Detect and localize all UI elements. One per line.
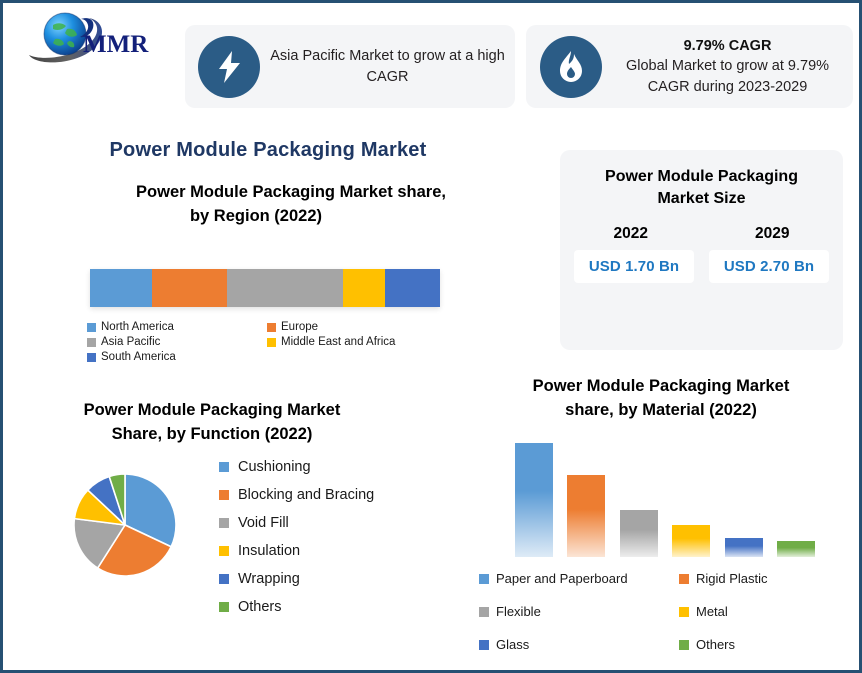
lightning-bolt-glyph: [214, 50, 244, 84]
material-bars: [515, 437, 815, 557]
material-legend-item: Rigid Plastic: [679, 571, 859, 586]
function-legend-item: Void Fill: [219, 515, 374, 531]
flame-glyph: [558, 50, 584, 84]
region-bar-segment: [152, 269, 227, 307]
legend-label: Paper and Paperboard: [496, 571, 628, 586]
legend-swatch-icon: [87, 323, 96, 332]
lightning-bolt-icon: [198, 36, 260, 98]
svg-text:MMR: MMR: [83, 31, 149, 58]
legend-swatch-icon: [87, 353, 96, 362]
legend-swatch-icon: [479, 640, 489, 650]
legend-swatch-icon: [267, 338, 276, 347]
material-chart-legend: Paper and PaperboardRigid PlasticFlexibl…: [479, 571, 859, 652]
legend-label: Cushioning: [238, 459, 311, 475]
region-bar-segment: [385, 269, 440, 307]
region-legend-item: South America: [87, 351, 267, 363]
legend-label: Others: [238, 599, 282, 615]
material-chart-title: Power Module Packaging Market share, by …: [465, 375, 857, 423]
legend-label: Europe: [281, 321, 318, 333]
region-legend-item: Asia Pacific: [87, 336, 267, 348]
function-pie-graphic: [73, 473, 177, 577]
region-bar-segment: [227, 269, 343, 307]
market-size-panel: Power Module Packaging Market Size 2022 …: [560, 150, 843, 350]
infographic-canvas: MMR Asia Pacific Market to grow at a hig…: [0, 0, 862, 673]
material-bar: [672, 525, 710, 557]
cagr-highlight: 9.79% CAGR: [608, 36, 847, 57]
legend-label: Flexible: [496, 604, 541, 619]
region-chart-legend: North AmericaEuropeAsia PacificMiddle Ea…: [87, 321, 447, 363]
function-legend-item: Blocking and Bracing: [219, 487, 374, 503]
market-size-title-line2: Market Size: [657, 190, 745, 207]
legend-label: Rigid Plastic: [696, 571, 768, 586]
material-bar: [515, 443, 553, 557]
material-legend-item: Paper and Paperboard: [479, 571, 679, 586]
material-chart-title-line1: Power Module Packaging Market: [533, 377, 790, 395]
market-size-years: 2022 2029: [560, 225, 843, 243]
legend-label: Others: [696, 637, 735, 652]
region-chart: Power Module Packaging Market share, by …: [61, 181, 451, 373]
material-chart-title-line2: share, by Material (2022): [565, 401, 757, 419]
region-chart-title-line2: by Region (2022): [61, 205, 451, 229]
function-legend-item: Wrapping: [219, 571, 374, 587]
legend-label: Asia Pacific: [101, 336, 160, 348]
material-bar: [725, 538, 763, 557]
material-bar-chart: Power Module Packaging Market share, by …: [465, 375, 862, 673]
market-size-year-2029: 2029: [712, 225, 832, 243]
function-chart-title-line2: Share, by Function (2022): [112, 425, 313, 443]
legend-swatch-icon: [219, 574, 229, 584]
function-chart-legend: CushioningBlocking and BracingVoid FillI…: [219, 459, 374, 615]
header-card-cagr: 9.79% CAGR Global Market to grow at 9.79…: [526, 25, 853, 108]
flame-icon: [540, 36, 602, 98]
legend-label: Metal: [696, 604, 728, 619]
material-legend-item: Flexible: [479, 604, 679, 619]
market-size-year-2022: 2022: [571, 225, 691, 243]
region-stacked-bar: [90, 269, 440, 307]
market-size-values: USD 1.70 Bn USD 2.70 Bn: [574, 250, 829, 283]
legend-label: Insulation: [238, 543, 300, 559]
region-legend-item: North America: [87, 321, 267, 333]
legend-swatch-icon: [219, 546, 229, 556]
region-bar-segment: [343, 269, 385, 307]
material-legend-item: Glass: [479, 637, 679, 652]
legend-swatch-icon: [479, 574, 489, 584]
market-size-title: Power Module Packaging Market Size: [560, 166, 843, 211]
region-legend-item: Europe: [267, 321, 447, 333]
material-bar: [620, 510, 658, 557]
legend-swatch-icon: [219, 462, 229, 472]
region-bar-segment: [90, 269, 152, 307]
legend-swatch-icon: [479, 607, 489, 617]
region-chart-title-line1: Power Module Packaging Market share,: [136, 183, 446, 201]
function-legend-item: Insulation: [219, 543, 374, 559]
legend-label: South America: [101, 351, 176, 363]
legend-swatch-icon: [219, 490, 229, 500]
market-size-value-2022: USD 1.70 Bn: [574, 250, 694, 283]
legend-label: Middle East and Africa: [281, 336, 395, 348]
legend-swatch-icon: [679, 607, 689, 617]
legend-swatch-icon: [219, 518, 229, 528]
market-size-value-2029: USD 2.70 Bn: [709, 250, 829, 283]
function-chart-title: Power Module Packaging Market Share, by …: [27, 399, 397, 447]
cagr-description: Global Market to grow at 9.79% CAGR duri…: [626, 58, 829, 95]
legend-swatch-icon: [679, 574, 689, 584]
legend-label: Wrapping: [238, 571, 300, 587]
legend-swatch-icon: [267, 323, 276, 332]
mmr-logo: MMR: [23, 9, 155, 67]
legend-swatch-icon: [679, 640, 689, 650]
function-legend-item: Cushioning: [219, 459, 374, 475]
material-legend-item: Metal: [679, 604, 859, 619]
function-legend-item: Others: [219, 599, 374, 615]
legend-swatch-icon: [87, 338, 96, 347]
legend-swatch-icon: [219, 602, 229, 612]
region-legend-item: Middle East and Africa: [267, 336, 447, 348]
mmr-logo-icon: MMR: [23, 9, 155, 67]
material-bar: [567, 475, 605, 557]
legend-label: North America: [101, 321, 174, 333]
header-card-cagr-text: 9.79% CAGR Global Market to grow at 9.79…: [602, 36, 853, 98]
header-card-asia-pacific: Asia Pacific Market to grow at a high CA…: [185, 25, 515, 108]
header-card-asia-pacific-text: Asia Pacific Market to grow at a high CA…: [260, 46, 515, 87]
legend-label: Glass: [496, 637, 529, 652]
market-size-title-line1: Power Module Packaging: [605, 168, 798, 185]
material-bar: [777, 541, 815, 557]
page-title: Power Module Packaging Market: [3, 139, 533, 162]
region-chart-title: Power Module Packaging Market share, by …: [61, 181, 451, 229]
legend-label: Blocking and Bracing: [238, 487, 374, 503]
material-legend-item: Others: [679, 637, 859, 652]
legend-label: Void Fill: [238, 515, 289, 531]
function-pie-chart: Power Module Packaging Market Share, by …: [27, 399, 427, 649]
function-chart-title-line1: Power Module Packaging Market: [84, 401, 341, 419]
